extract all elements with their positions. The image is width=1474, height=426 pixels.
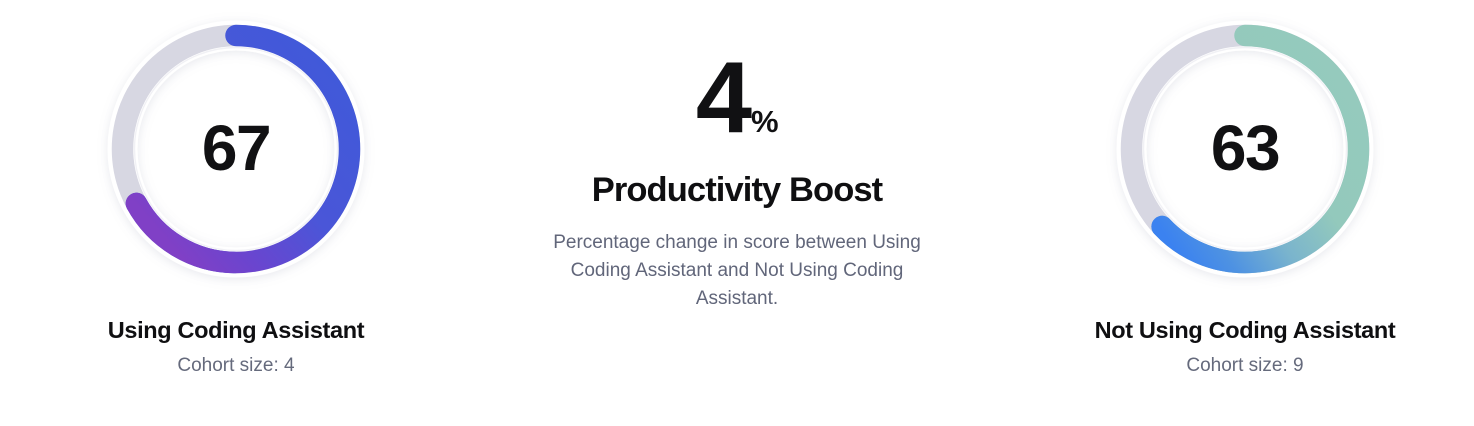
right-gauge-title: Not Using Coding Assistant <box>1095 317 1396 344</box>
delta-title: Productivity Boost <box>592 171 883 210</box>
productivity-comparison-board: 67 Using Coding Assistant Cohort size: 4… <box>0 0 1474 426</box>
delta-value: 4 <box>696 52 748 145</box>
right-gauge-panel: 63 Not Using Coding Assistant Cohort siz… <box>1008 0 1474 377</box>
right-gauge-value: 63 <box>1114 18 1376 280</box>
left-gauge-title: Using Coding Assistant <box>108 317 364 344</box>
right-gauge-wrap[interactable]: 63 <box>1114 18 1376 280</box>
left-gauge-cohort-size: Cohort size: 4 <box>177 355 294 377</box>
right-gauge-cohort-size: Cohort size: 9 <box>1186 355 1303 377</box>
left-gauge-wrap[interactable]: 67 <box>105 18 367 280</box>
center-summary-panel: 4 % Productivity Boost Percentage change… <box>496 0 978 313</box>
delta-description: Percentage change in score between Using… <box>539 229 935 313</box>
left-gauge-value: 67 <box>105 18 367 280</box>
delta-unit: % <box>748 106 778 137</box>
delta-stat: 4 % <box>696 52 778 145</box>
left-gauge-panel: 67 Using Coding Assistant Cohort size: 4 <box>0 0 466 377</box>
